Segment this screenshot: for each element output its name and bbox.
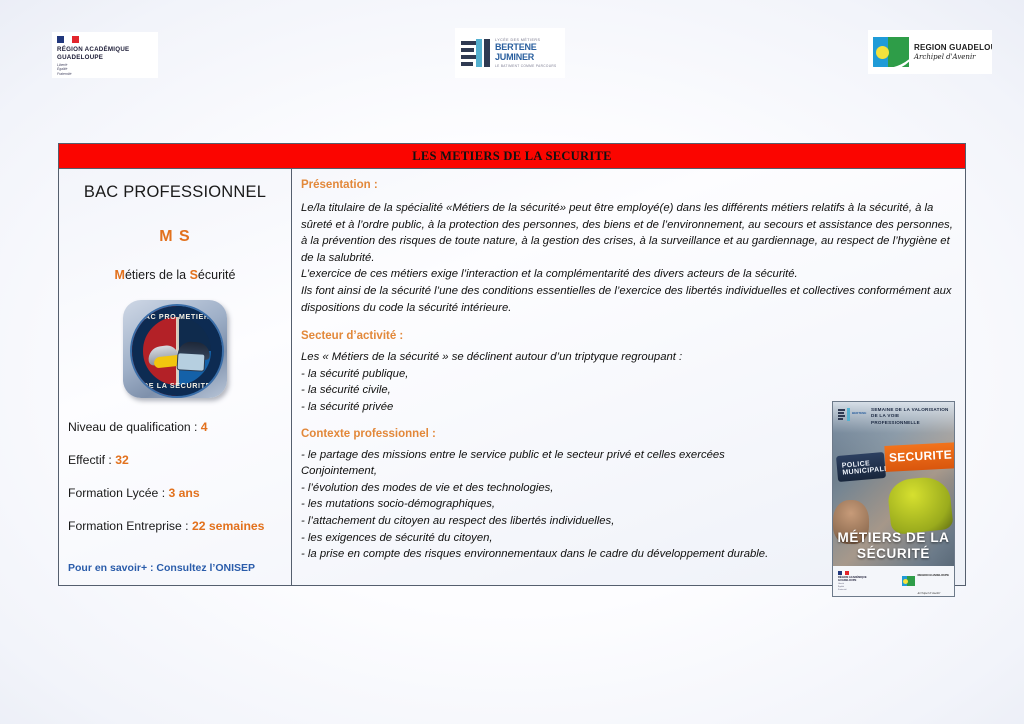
poster-lycee-logo-name: BERTENE bbox=[852, 412, 866, 416]
badge-text-top: BAC PRO METIERS bbox=[132, 312, 222, 321]
region-guadeloupe-mark-icon bbox=[873, 37, 909, 67]
bac-pro-securite-badge-icon: BAC PRO METIERS DE LA SECURITE bbox=[123, 300, 227, 398]
french-flag-icon bbox=[838, 571, 849, 575]
section-presentation-title: Présentation : bbox=[301, 179, 955, 191]
french-flag-icon bbox=[57, 36, 79, 43]
fact-value: 4 bbox=[201, 420, 208, 434]
poster-footer-academie-line2: GUADELOUPE bbox=[838, 579, 867, 582]
poster-footer-region-name: REGION GUADELOUPE bbox=[917, 573, 949, 577]
fact-label: Formation Entreprise : bbox=[68, 519, 192, 533]
fact-effectif: Effectif : 32 bbox=[68, 453, 282, 468]
poster-tagline: SEMAINE DE LA VALORISATION DE LA VOIE PR… bbox=[871, 407, 949, 426]
region-guadeloupe-mark-icon bbox=[902, 576, 915, 586]
diploma-label-mid: étiers de la bbox=[125, 268, 190, 282]
section-secteur-title: Secteur d’activité : bbox=[301, 330, 955, 342]
academie-logo-devise: Liberté Égalité Fraternité bbox=[57, 63, 153, 76]
onisep-link[interactable]: Pour en savoir+ : Consultez l’ONISEP bbox=[68, 562, 282, 574]
poster-footer-region-logo: REGION GUADELOUPE Archipel d’Avenir bbox=[902, 563, 949, 597]
diploma-title: BAC PROFESSIONNEL bbox=[68, 183, 282, 202]
diploma-code: M S bbox=[68, 228, 282, 246]
fact-formation-entreprise: Formation Entreprise : 22 semaines bbox=[68, 519, 282, 534]
poster-securite-band: SECURITE bbox=[884, 442, 955, 472]
building-mark-icon bbox=[461, 39, 491, 67]
poster-police-label: POLICE MUNICIPALE bbox=[842, 459, 890, 477]
academie-logo-line1: RÉGION ACADÉMIQUE bbox=[57, 46, 153, 54]
fact-value: 32 bbox=[115, 453, 129, 467]
diploma-label-initial-m: M bbox=[115, 268, 125, 282]
facts-list: Niveau de qualification : 4 Effectif : 3… bbox=[68, 420, 282, 552]
poster-title-line2: SÉCURITÉ bbox=[833, 546, 954, 562]
fact-value: 3 ans bbox=[168, 486, 199, 500]
fact-label: Niveau de qualification : bbox=[68, 420, 201, 434]
region-logo-name: REGION GUADELOUPE bbox=[914, 43, 987, 52]
fact-formation-lycee: Formation Lycée : 3 ans bbox=[68, 486, 282, 501]
academie-logo-line2: GUADELOUPE bbox=[57, 54, 153, 62]
region-guadeloupe-logo: REGION GUADELOUPE Archipel d'Avenir bbox=[868, 30, 992, 74]
diploma-label-suffix: écurité bbox=[198, 268, 236, 282]
fiche-right-column: Présentation : Le/la titulaire de la spé… bbox=[292, 169, 965, 585]
fact-label: Effectif : bbox=[68, 453, 115, 467]
fact-value: 22 semaines bbox=[192, 519, 265, 533]
poster-footer-academie-devise: Liberté Égalité Fraternité bbox=[838, 583, 867, 591]
lycee-bertene-juminer-logo: LYCÉE DES MÉTIERS BERTENE JUMINER LE BAT… bbox=[455, 28, 565, 78]
region-logo-tagline: Archipel d'Avenir bbox=[914, 53, 987, 61]
badge-text-bottom: DE LA SECURITE bbox=[132, 381, 222, 390]
poster-title: MÉTIERS DE LA SÉCURITÉ bbox=[833, 530, 954, 562]
poster-title-line1: MÉTIERS DE LA bbox=[833, 530, 954, 546]
fiche-body: BAC PROFESSIONNEL M S Métiers de la Sécu… bbox=[59, 169, 965, 585]
fiche-formation-card: LES METIERS DE LA SECURITE BAC PROFESSIO… bbox=[58, 143, 966, 586]
logo-strip: RÉGION ACADÉMIQUE GUADELOUPE Liberté Éga… bbox=[0, 0, 1024, 110]
poster-lycee-logo-icon: BERTENE bbox=[838, 406, 870, 422]
poster-footer-region-tagline: Archipel d’Avenir bbox=[917, 592, 940, 595]
fact-label: Formation Lycée : bbox=[68, 486, 168, 500]
fact-niveau-qualification: Niveau de qualification : 4 bbox=[68, 420, 282, 435]
diploma-label: Métiers de la Sécurité bbox=[68, 268, 282, 282]
poster-footer: RÉGION ACADÉMIQUE GUADELOUPE Liberté Éga… bbox=[833, 566, 954, 596]
poster-securite-label: SECURITE bbox=[889, 447, 953, 464]
poster-footer-academie-logo: RÉGION ACADÉMIQUE GUADELOUPE Liberté Éga… bbox=[838, 571, 867, 591]
lycee-logo-name2: JUMINER bbox=[495, 53, 559, 62]
region-academique-guadeloupe-logo: RÉGION ACADÉMIQUE GUADELOUPE Liberté Éga… bbox=[52, 32, 158, 78]
diploma-label-initial-s: S bbox=[190, 268, 198, 282]
poster-police-badge: POLICE MUNICIPALE bbox=[836, 452, 886, 482]
section-presentation: Présentation : Le/la titulaire de la spé… bbox=[301, 179, 955, 316]
poster-metiers-de-la-securite: POLICE MUNICIPALE SECURITE BERTENE SEMAI… bbox=[832, 401, 955, 597]
fiche-header-title: LES METIERS DE LA SECURITE bbox=[59, 144, 965, 169]
fiche-left-column: BAC PROFESSIONNEL M S Métiers de la Sécu… bbox=[59, 169, 292, 585]
lycee-logo-sub: LE BATIMENT COMME PARCOURS bbox=[495, 64, 559, 68]
section-presentation-body: Le/la titulaire de la spécialité «Métier… bbox=[301, 200, 955, 316]
